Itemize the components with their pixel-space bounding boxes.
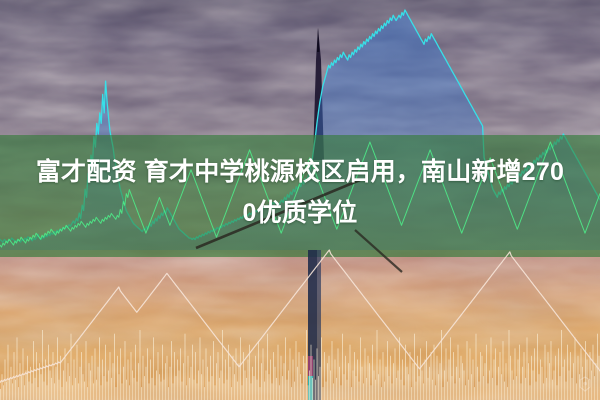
page-title: 富才配资 育才中学桃源校区启用，南山新增270 0优质学位 — [0, 152, 600, 234]
headline-line-2: 0优质学位 — [0, 193, 600, 234]
volume-bars — [0, 330, 599, 400]
thumbnail-image: 富才配资 育才中学桃源校区启用，南山新增270 0优质学位 — [0, 0, 600, 400]
headline-line-1: 富才配资 育才中学桃源校区启用，南山新增270 — [0, 152, 600, 193]
watermark-icon — [578, 376, 592, 392]
